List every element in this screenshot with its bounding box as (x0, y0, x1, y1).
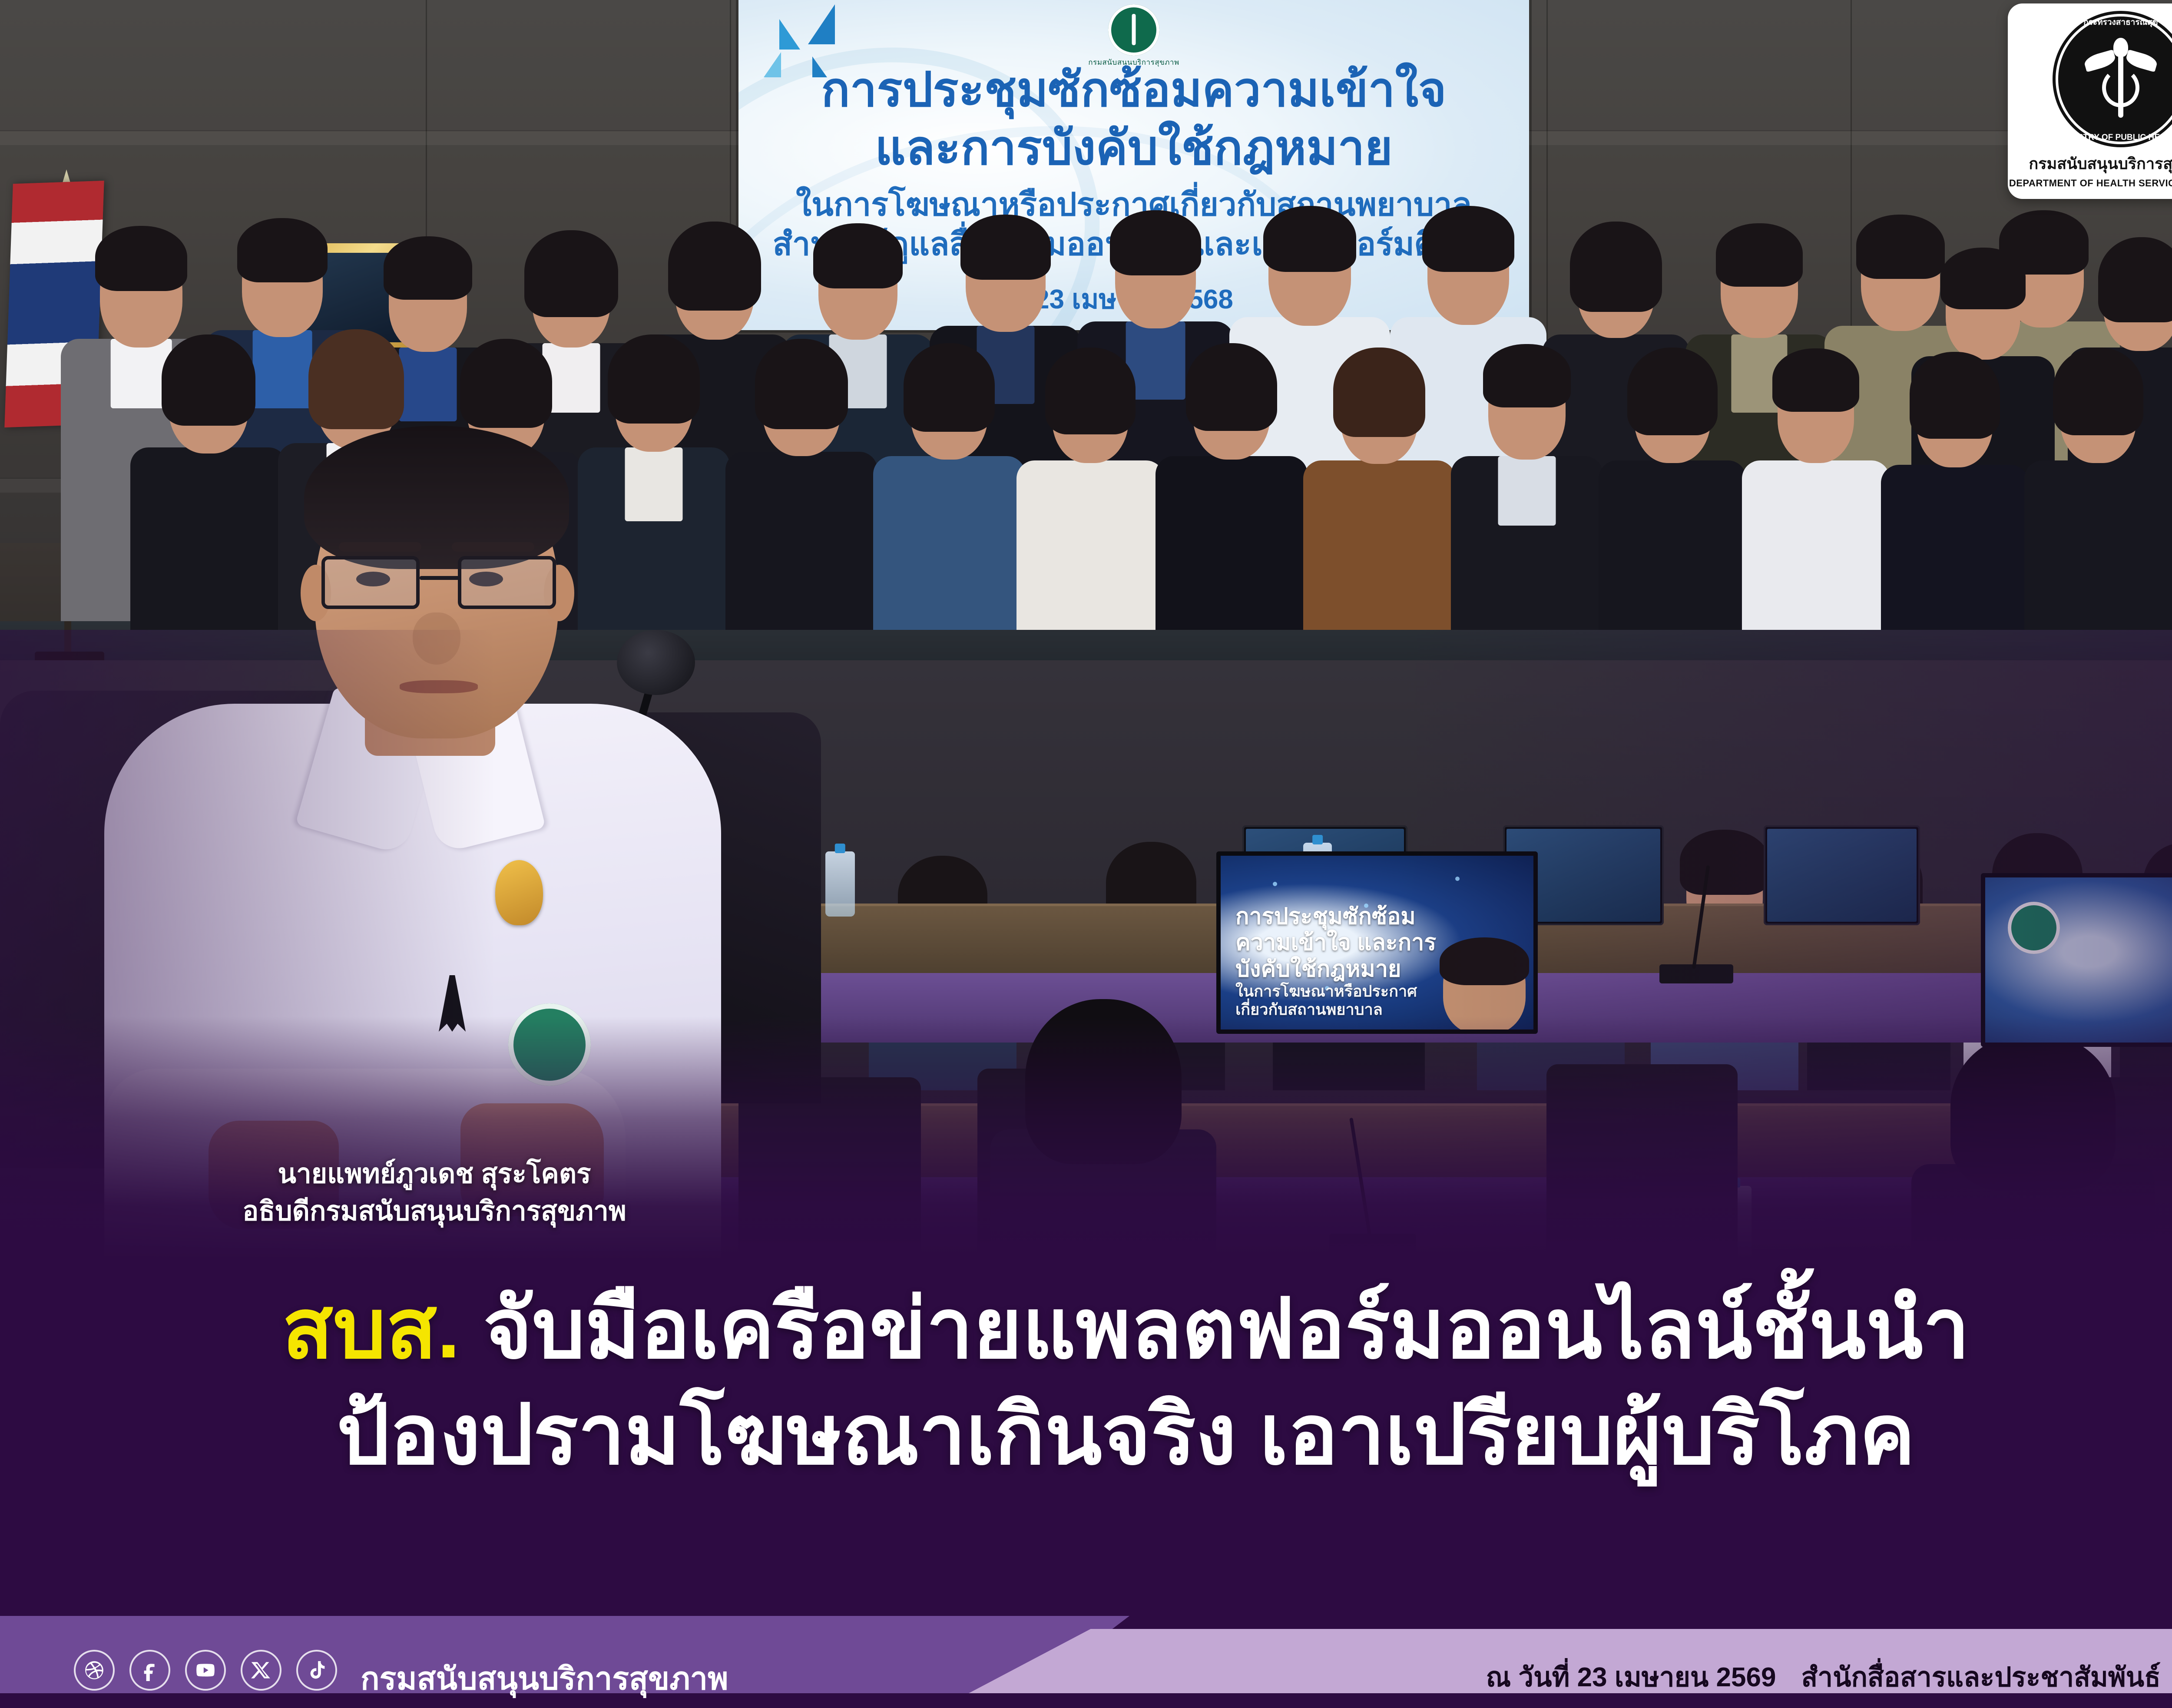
ministry-logo-card: กระทรวงสาธารณสุข MINISTRY OF PUBLIC HEAL… (2008, 3, 2172, 199)
tiktok-icon[interactable] (296, 1650, 337, 1691)
headline-accent: สบส. (282, 1282, 460, 1375)
facebook-icon[interactable] (129, 1650, 170, 1691)
footer-department: สำนักสื่อสารและประชาสัมพันธ์ (1801, 1662, 2161, 1692)
news-graphic-poster: กรมสนับสนุนบริการสุขภาพ การประชุมซักซ้อม… (0, 0, 2172, 1708)
dribbble-icon[interactable] (74, 1650, 115, 1691)
footer-organization-name: กรมสนับสนุนบริการสุขภาพ (361, 1653, 728, 1703)
department-english-name: DEPARTMENT OF HEALTH SERVICE SUPPORT (2009, 178, 2172, 189)
photo-collage: กรมสนับสนุนบริการสุขภาพ การประชุมซักซ้อม… (0, 0, 2172, 1260)
moph-emblem-icon (1108, 4, 1159, 56)
headline-block: สบส. จับมือเครือข่ายแพลตฟอร์มออนไลน์ชั้น… (0, 1260, 2172, 1607)
screen-title-line2: และการบังคับใช้กฎหมาย (738, 119, 1529, 177)
speaker-caption: นายแพทย์ภูวเดช สุระโคตร อธิบดีกรมสนับสนุ… (130, 1155, 738, 1230)
footer-bar: กรมสนับสนุนบริการสุขภาพ ณ วันที่ 23 เมษา… (0, 1599, 2172, 1708)
department-thai-name: กรมสนับสนุนบริการสุขภาพ (2029, 151, 2172, 176)
social-links (74, 1650, 337, 1691)
eyeglasses-icon (321, 556, 556, 612)
footer-date-department: ณ วันที่ 23 เมษายน 2569สำนักสื่อสารและปร… (1486, 1656, 2161, 1698)
headline-line-1-rest: จับมือเครือข่ายแพลตฟอร์มออนไลน์ชั้นนำ (460, 1282, 1970, 1375)
headline-line-2: ป้องปรามโฆษณาเกินจริง เอาเปรียบผู้บริโภค (0, 1384, 2172, 1486)
seal-top-text: กระทรวงสาธารณสุข (2058, 16, 2172, 29)
headline-line-1: สบส. จับมือเครือข่ายแพลตฟอร์มออนไลน์ชั้น… (0, 1278, 2172, 1380)
footer-date: ณ วันที่ 23 เมษายน 2569 (1486, 1662, 1776, 1692)
x-twitter-icon[interactable] (241, 1650, 281, 1691)
speaker-position: อธิบดีกรมสนับสนุนบริการสุขภาพ (130, 1193, 738, 1230)
ministry-seal-icon: กระทรวงสาธารณสุข MINISTRY OF PUBLIC HEAL… (2056, 14, 2172, 144)
speaker-name: นายแพทย์ภูวเดช สุระโคตร (130, 1155, 738, 1193)
seal-bottom-text: MINISTRY OF PUBLIC HEALTH (2058, 133, 2172, 142)
screen-title-line1: การประชุมซักซ้อมความเข้าใจ (738, 61, 1529, 119)
youtube-icon[interactable] (185, 1650, 226, 1691)
